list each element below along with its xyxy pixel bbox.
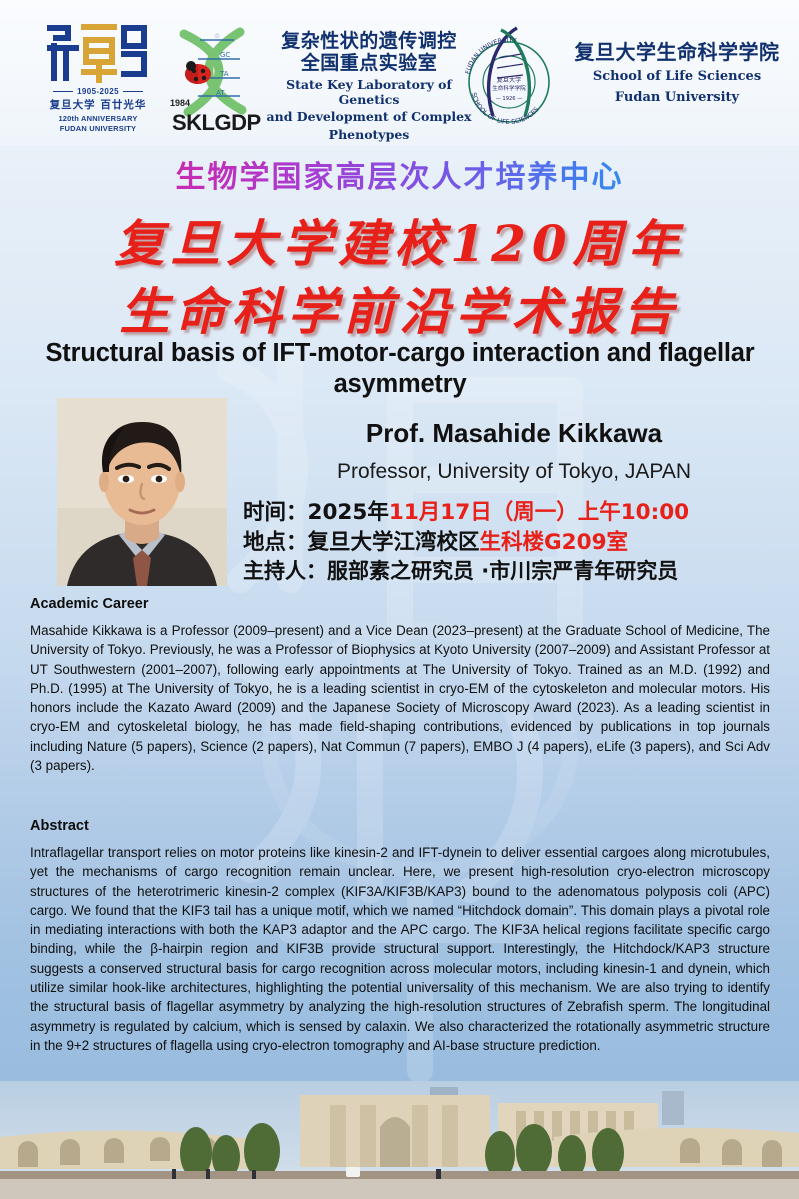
abstract-heading: Abstract xyxy=(30,818,770,834)
campus-photo xyxy=(0,1081,799,1199)
sls-cn: 复旦大学生命科学学院 xyxy=(568,36,786,65)
fudan-120-rule: 1905-2025 xyxy=(53,87,143,96)
sklgdp-name-block: 复杂性状的遗传调控 全国重点实验室 State Key Laboratory o… xyxy=(258,30,480,142)
sklgdp-year: 1984 xyxy=(170,98,190,108)
event-place-highlight: 生科楼G209室 xyxy=(480,530,629,555)
speaker-portrait xyxy=(57,398,227,586)
event-time-prefix: 2025年 xyxy=(308,500,389,525)
seminar-poster: 1905-2025 复旦大学 百廿光华 120th ANNIVERSARY FU… xyxy=(0,0,799,1199)
fudan-120-english-1: 120th ANNIVERSARY xyxy=(58,114,137,123)
event-time-label: 时间： xyxy=(243,500,308,525)
academic-career-heading: Academic Career xyxy=(30,596,770,612)
talk-title: Structural basis of IFT-motor-cargo inte… xyxy=(20,338,780,400)
abstract-section: Abstract Intraflagellar transport relies… xyxy=(30,818,770,1055)
abstract-body: Intraflagellar transport relies on motor… xyxy=(30,843,770,1055)
svg-text:— 1926 —: — 1926 — xyxy=(496,96,523,102)
svg-text:☆: ☆ xyxy=(214,32,220,40)
speaker-name: Prof. Masahide Kikkawa xyxy=(240,418,788,449)
sklgdp-wordmark: SKLGDP xyxy=(172,110,261,136)
fudan-120-english-2: FUDAN UNIVERSITY xyxy=(60,124,137,133)
fudan-120-mark-icon xyxy=(44,22,152,84)
sklgdp-cn-line1: 复杂性状的遗传调控 xyxy=(258,30,480,52)
svg-text:GC: GC xyxy=(220,51,230,59)
sklgdp-en-line3: Phenotypes xyxy=(258,127,480,142)
event-host-label: 主持人： xyxy=(243,559,327,583)
event-host-row: 主持人：服部素之研究员 ·市川宗严青年研究员 xyxy=(243,557,793,586)
school-of-life-sciences-name-block: 复旦大学生命科学学院 School of Life Sciences Fudan… xyxy=(568,36,786,107)
academic-career-section: Academic Career Masahide Kikkawa is a Pr… xyxy=(30,596,770,775)
fudan-120-years: 1905-2025 xyxy=(77,87,119,96)
life-sciences-seal-icon: FUDAN UNIVERSITY SCHOOL OF LIFE SCIENCES… xyxy=(455,20,563,138)
talent-center-name: 生物学国家高层次人才培养中心 xyxy=(0,152,799,196)
event-place-row: 地点：复旦大学江湾校区生科楼G209室 xyxy=(243,528,793,558)
sklgdp-en-line1: State Key Laboratory of Genetics xyxy=(258,77,480,108)
event-time-highlight: 11月17日（周一）上午10:00 xyxy=(389,500,689,525)
event-time-row: 时间：2025年11月17日（周一）上午10:00 xyxy=(243,498,793,528)
school-of-life-sciences-logo: FUDAN UNIVERSITY SCHOOL OF LIFE SCIENCES… xyxy=(455,20,563,138)
event-place-label: 地点： xyxy=(243,530,308,555)
svg-text:AT: AT xyxy=(216,89,225,97)
svg-text:复旦大学: 复旦大学 xyxy=(497,76,522,84)
header-logo-band: 1905-2025 复旦大学 百廿光华 120th ANNIVERSARY FU… xyxy=(0,0,799,146)
svg-text:生命科学学院: 生命科学学院 xyxy=(492,84,526,92)
speaker-affiliation: Professor, University of Tokyo, JAPAN xyxy=(240,460,788,484)
academic-career-body: Masahide Kikkawa is a Professor (2009–pr… xyxy=(30,621,770,775)
sklgdp-en-line2: and Development of Complex xyxy=(258,109,480,124)
event-place-prefix: 复旦大学江湾校区 xyxy=(308,530,480,555)
anniversary-headline-line2: 生命科学前沿学术报告 xyxy=(0,272,799,344)
fudan-120-anniversary-logo: 1905-2025 复旦大学 百廿光华 120th ANNIVERSARY FU… xyxy=(38,22,158,142)
event-host-value: 服部素之研究员 ·市川宗严青年研究员 xyxy=(327,559,678,583)
sls-en-line2: Fudan University xyxy=(568,90,786,107)
anniversary-headline-line1: 复旦大学建校120周年 xyxy=(0,204,799,276)
sls-en-line1: School of Life Sciences xyxy=(568,69,786,86)
event-details: 时间：2025年11月17日（周一）上午10:00 地点：复旦大学江湾校区生科楼… xyxy=(243,498,793,586)
sklgdp-cn-line2: 全国重点实验室 xyxy=(258,52,480,74)
fudan-120-chinese: 复旦大学 百廿光华 xyxy=(50,97,147,112)
svg-text:TA: TA xyxy=(219,70,229,78)
